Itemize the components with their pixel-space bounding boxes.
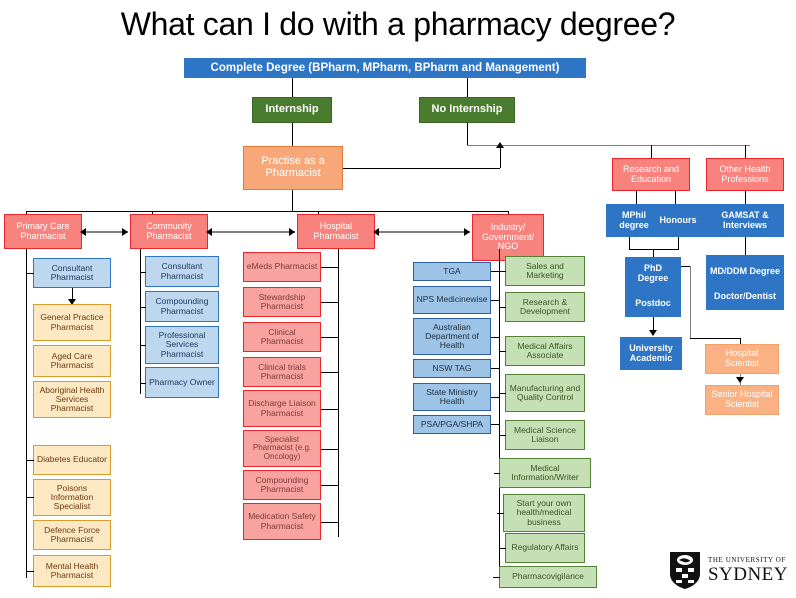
node-comm-compounding-pharmacist[interactable]: Compounding Pharmacist	[145, 291, 219, 322]
page-title: What can I do with a pharmacy degree?	[0, 6, 796, 43]
node-ind-australian-department-of-health[interactable]: Australian Department of Health	[413, 318, 491, 355]
node-hosp-stewardship-pharmacist[interactable]: Stewardship Pharmacist	[243, 287, 321, 317]
node-industry-government-ngo[interactable]: Industry/ Government/ NGO	[472, 214, 544, 261]
node-ind-tga[interactable]: TGA	[413, 262, 491, 281]
flowchart-canvas: What can I do with a pharmacy degree? Co…	[0, 0, 796, 598]
line-mphil-honours-join	[629, 249, 679, 250]
line-pc-consultant-stub	[26, 273, 34, 274]
node-phd-degree-label: PhD Degree	[626, 264, 680, 283]
node-industry-government-ngo-label: Industry/ Government/ NGO	[473, 223, 543, 252]
node-hosp-medication-safety-pharmacist-label: Medication Safety Pharmacist	[244, 512, 320, 530]
line-role-rnd-stub	[499, 307, 506, 308]
line-hosp-stewardship-stub	[321, 302, 339, 303]
wordmark-line-1: THE UNIVERSITY OF	[708, 557, 788, 564]
line-comm-compounding-stub	[140, 307, 146, 308]
node-primary-care-pharmacist[interactable]: Primary Care Pharmacist	[4, 214, 82, 249]
arrow-primary-to-community	[122, 228, 128, 236]
node-research-and-education-label: Research and Education	[613, 165, 689, 184]
node-community-pharmacist-label: Community Pharmacist	[131, 222, 207, 241]
line-pc-poisons-stub	[26, 497, 34, 498]
node-pc-defence-force-pharmacist[interactable]: Defence Force Pharmacist	[33, 520, 111, 550]
usyd-shield-icon	[668, 550, 702, 590]
line-role-mqc-stub	[499, 393, 506, 394]
line-pc-diabetes-stub	[26, 460, 34, 461]
line-pc-mental-health-stub	[26, 571, 34, 572]
node-senior-hospital-scientist[interactable]: Senior Hospital Scientist	[705, 385, 779, 415]
node-comm-pharmacy-owner[interactable]: Pharmacy Owner	[145, 367, 219, 398]
node-complete-degree-label: Complete Degree (BPharm, MPharm, BPharm …	[209, 62, 562, 74]
node-role-research-development-label: Research & Development	[506, 298, 584, 316]
node-hosp-clinical-pharmacist[interactable]: Clinical Pharmacist	[243, 322, 321, 352]
node-no-internship-label: No Internship	[430, 104, 505, 116]
node-hosp-clinical-trials-pharmacist[interactable]: Clinical trials Pharmacist	[243, 357, 321, 387]
arrow-community-to-hospital	[289, 228, 295, 236]
node-practise-as-pharmacist[interactable]: Practise as a Pharmacist	[243, 146, 343, 190]
line-role-startbiz-stub	[497, 513, 504, 514]
line-role-sales-stub	[499, 271, 506, 272]
node-pc-consultant-pharmacist-label: Consultant Pharmacist	[34, 264, 110, 282]
line-hosp-emeds-stub	[321, 267, 339, 268]
node-role-manufacturing-quality-control[interactable]: Manufacturing and Quality Control	[505, 374, 585, 412]
line-ind-smh-stub	[491, 397, 500, 398]
node-hosp-compounding-pharmacist[interactable]: Compounding Pharmacist	[243, 470, 321, 500]
node-hosp-discharge-liaison-pharmacist[interactable]: Discharge Liaison Pharmacist	[243, 390, 321, 427]
node-ind-psa-pga-shpa-label: PSA/PGA/SHPA	[419, 420, 485, 429]
node-comm-consultant-pharmacist[interactable]: Consultant Pharmacist	[145, 256, 219, 287]
line-nointernship-drop	[467, 123, 468, 145]
line-role-miw-stub	[494, 473, 500, 474]
node-postdoc-label: Postdoc	[633, 299, 673, 309]
node-pc-consultant-pharmacist[interactable]: Consultant Pharmacist	[33, 258, 111, 288]
node-practise-as-pharmacist-label: Practise as a Pharmacist	[244, 156, 342, 180]
university-logo: THE UNIVERSITY OF SYDNEY	[668, 550, 788, 590]
line-nointernship-to-right-spine	[467, 145, 750, 146]
node-ind-nps-medicinewise-label: NPS Medicinewise	[415, 295, 490, 304]
line-comm-consultant-stub	[140, 272, 146, 273]
line-comm-owner-stub	[140, 383, 146, 384]
node-hosp-medication-safety-pharmacist[interactable]: Medication Safety Pharmacist	[243, 503, 321, 540]
line-ind-nswtag-stub	[491, 368, 500, 369]
arrow-hospital-to-senior-scientist	[736, 377, 744, 383]
line-hosp-specialist-stub	[321, 449, 339, 450]
node-honours[interactable]: Honours	[650, 204, 706, 237]
node-comm-professional-services-pharmacist-label: Professional Services Pharmacist	[146, 331, 218, 359]
line-streams-bus	[26, 211, 508, 212]
node-role-medical-affairs-associate[interactable]: Medical Affairs Associate	[505, 336, 585, 366]
node-pc-defence-force-pharmacist-label: Defence Force Pharmacist	[34, 526, 110, 544]
line-practise-down	[292, 190, 293, 211]
wordmark-line-2: SYDNEY	[708, 565, 788, 584]
spine-primary-care	[26, 249, 27, 578]
node-pc-aged-care-pharmacist-label: Aged Care Pharmacist	[34, 352, 110, 370]
line-root-to-internship	[292, 78, 293, 97]
line-role-msl-stub	[499, 435, 506, 436]
line-hosp-compounding-stub	[321, 485, 339, 486]
line-hospital-industry	[377, 231, 470, 233]
node-ind-nsw-tag[interactable]: NSW TAG	[413, 359, 491, 378]
line-right-spine-otherhealth-drop	[745, 145, 746, 159]
node-complete-degree[interactable]: Complete Degree (BPharm, MPharm, BPharm …	[184, 58, 586, 78]
node-md-ddm-degree-label: MD/DDM Degree	[708, 267, 782, 277]
line-otherhealth-to-gamsat	[745, 191, 746, 204]
node-role-medical-information-writer-label: Medical Information/Writer	[500, 464, 590, 482]
line-hosp-medsafety-stub	[321, 522, 339, 523]
node-pc-poisons-information-specialist[interactable]: Poisons Information Specialist	[33, 479, 111, 516]
line-right-spine-research-drop	[651, 145, 652, 159]
arrow-industry-to-hospital	[373, 228, 379, 236]
node-hosp-specialist-pharmacist-label: Specialist Pharmacist (e.g. Oncology)	[244, 436, 320, 462]
node-pc-general-practice-pharmacist-label: General Practice Pharmacist	[34, 313, 110, 331]
node-phd-degree[interactable]: PhD Degree	[625, 257, 681, 290]
node-university-academic[interactable]: University Academic	[620, 337, 682, 370]
node-gamsat-interviews-label: GAMSAT & Interviews	[707, 211, 783, 230]
node-gamsat-interviews[interactable]: GAMSAT & Interviews	[706, 204, 784, 237]
node-role-regulatory-affairs-label: Regulatory Affairs	[510, 543, 581, 552]
line-community-hospital	[210, 231, 295, 233]
node-comm-pharmacy-owner-label: Pharmacy Owner	[147, 378, 217, 387]
node-pc-aboriginal-health-services-pharmacist-label: Aboriginal Health Services Pharmacist	[34, 386, 110, 414]
node-research-and-education[interactable]: Research and Education	[612, 158, 690, 191]
node-doctor-dentist[interactable]: Doctor/Dentist	[706, 283, 784, 310]
line-honours-drop	[678, 237, 679, 249]
arrow-practise-to-right-spine	[496, 142, 504, 148]
arrow-postdoc-to-academic	[649, 330, 657, 336]
node-hosp-compounding-pharmacist-label: Compounding Pharmacist	[244, 476, 320, 494]
node-ind-nps-medicinewise[interactable]: NPS Medicinewise	[413, 286, 491, 314]
node-role-sales-and-marketing[interactable]: Sales and Marketing	[505, 256, 585, 286]
line-ind-nps-stub	[491, 300, 500, 301]
line-research-to-honours	[675, 191, 676, 204]
line-phd-right-drop	[690, 266, 691, 338]
node-role-regulatory-affairs[interactable]: Regulatory Affairs	[505, 533, 585, 563]
line-phd-right	[681, 266, 690, 267]
line-ind-psa-stub	[491, 424, 500, 425]
arrow-community-to-primary	[80, 228, 86, 236]
node-role-medical-affairs-associate-label: Medical Affairs Associate	[506, 342, 584, 360]
university-wordmark: THE UNIVERSITY OF SYDNEY	[708, 557, 788, 584]
line-hosp-clinical-stub	[321, 337, 339, 338]
node-hosp-clinical-trials-pharmacist-label: Clinical trials Pharmacist	[244, 363, 320, 381]
node-role-start-your-own-business-label: Start your own health/medical business	[504, 499, 584, 527]
node-pc-aboriginal-health-services-pharmacist[interactable]: Aboriginal Health Services Pharmacist	[33, 381, 111, 418]
line-role-ra-stub	[499, 548, 506, 549]
line-practise-right	[343, 168, 500, 169]
node-hospital-pharmacist-label: Hospital Pharmacist	[298, 222, 374, 241]
node-hospital-scientist-label: Hospital Scientist	[706, 349, 778, 368]
node-hospital-scientist[interactable]: Hospital Scientist	[705, 344, 779, 374]
node-hosp-discharge-liaison-pharmacist-label: Discharge Liaison Pharmacist	[244, 399, 320, 417]
node-role-sales-and-marketing-label: Sales and Marketing	[506, 262, 584, 280]
node-pc-aged-care-pharmacist[interactable]: Aged Care Pharmacist	[33, 345, 111, 377]
node-role-pharmacovigilance-label: Pharmacovigilance	[510, 572, 586, 581]
line-hosp-trials-stub	[321, 372, 339, 373]
node-role-research-development[interactable]: Research & Development	[505, 292, 585, 322]
line-internship-to-practise	[292, 123, 293, 146]
node-hosp-specialist-pharmacist[interactable]: Specialist Pharmacist (e.g. Oncology)	[243, 430, 321, 467]
node-pc-poisons-information-specialist-label: Poisons Information Specialist	[34, 484, 110, 512]
arrow-hospital-to-industry	[464, 228, 470, 236]
node-other-health-professions[interactable]: Other Health Professions	[706, 158, 784, 191]
node-ind-australian-department-of-health-label: Australian Department of Health	[414, 323, 490, 351]
line-join-to-phd	[653, 249, 654, 257]
node-senior-hospital-scientist-label: Senior Hospital Scientist	[706, 390, 778, 409]
node-community-pharmacist[interactable]: Community Pharmacist	[130, 214, 208, 249]
node-role-manufacturing-quality-control-label: Manufacturing and Quality Control	[506, 384, 584, 402]
node-role-start-your-own-business[interactable]: Start your own health/medical business	[503, 494, 585, 532]
node-hosp-emeds-pharmacist-label: eMeds Pharmacist	[245, 262, 319, 271]
node-ind-nsw-tag-label: NSW TAG	[431, 364, 474, 373]
node-ind-state-ministry-health-label: State Ministry Health	[414, 388, 490, 406]
line-role-maa-stub	[499, 351, 506, 352]
arrow-hospital-to-community	[206, 228, 212, 236]
node-hosp-stewardship-pharmacist-label: Stewardship Pharmacist	[244, 293, 320, 311]
line-comm-professional-stub	[140, 345, 146, 346]
node-no-internship[interactable]: No Internship	[419, 97, 515, 123]
line-phd-to-hospital-scientist	[690, 338, 740, 339]
node-role-medical-information-writer[interactable]: Medical Information/Writer	[499, 458, 591, 488]
node-comm-consultant-pharmacist-label: Consultant Pharmacist	[146, 262, 218, 280]
line-practise-right-riser	[500, 146, 501, 168]
node-pc-diabetes-educator[interactable]: Diabetes Educator	[33, 445, 111, 475]
line-research-to-mphil	[636, 191, 637, 204]
node-honours-label: Honours	[658, 216, 699, 226]
line-mphil-drop	[629, 237, 630, 249]
node-postdoc[interactable]: Postdoc	[625, 290, 681, 317]
line-root-to-nointernship	[467, 78, 468, 97]
line-hosp-discharge-stub	[321, 409, 339, 410]
spine-community	[140, 249, 141, 394]
node-internship[interactable]: Internship	[252, 97, 332, 123]
node-pc-mental-health-pharmacist-label: Mental Health Pharmacist	[34, 562, 110, 580]
node-hosp-emeds-pharmacist[interactable]: eMeds Pharmacist	[243, 252, 321, 282]
node-role-medical-science-liaison-label: Medical Science Liaison	[506, 426, 584, 444]
node-comm-compounding-pharmacist-label: Compounding Pharmacist	[146, 297, 218, 315]
node-pc-diabetes-educator-label: Diabetes Educator	[35, 455, 109, 464]
spine-industry	[499, 249, 500, 579]
node-hosp-clinical-pharmacist-label: Clinical Pharmacist	[244, 328, 320, 346]
spine-hospital	[338, 249, 339, 537]
node-internship-label: Internship	[263, 104, 320, 116]
node-university-academic-label: University Academic	[621, 344, 681, 363]
node-comm-professional-services-pharmacist[interactable]: Professional Services Pharmacist	[145, 326, 219, 364]
node-doctor-dentist-label: Doctor/Dentist	[712, 292, 778, 302]
node-ind-tga-label: TGA	[441, 267, 462, 276]
node-pc-general-practice-pharmacist[interactable]: General Practice Pharmacist	[33, 304, 111, 341]
line-ind-doh-stub	[491, 337, 500, 338]
node-hospital-pharmacist[interactable]: Hospital Pharmacist	[297, 214, 375, 249]
line-role-pv-stub	[493, 577, 500, 578]
node-ind-state-ministry-health[interactable]: State Ministry Health	[413, 383, 491, 411]
node-ind-psa-pga-shpa[interactable]: PSA/PGA/SHPA	[413, 415, 491, 434]
node-pc-mental-health-pharmacist[interactable]: Mental Health Pharmacist	[33, 555, 111, 587]
node-role-pharmacovigilance[interactable]: Pharmacovigilance	[499, 566, 597, 588]
node-primary-care-pharmacist-label: Primary Care Pharmacist	[5, 222, 81, 241]
node-other-health-professions-label: Other Health Professions	[707, 165, 783, 184]
node-role-medical-science-liaison[interactable]: Medical Science Liaison	[505, 420, 585, 450]
line-gamsat-to-md	[745, 237, 746, 255]
